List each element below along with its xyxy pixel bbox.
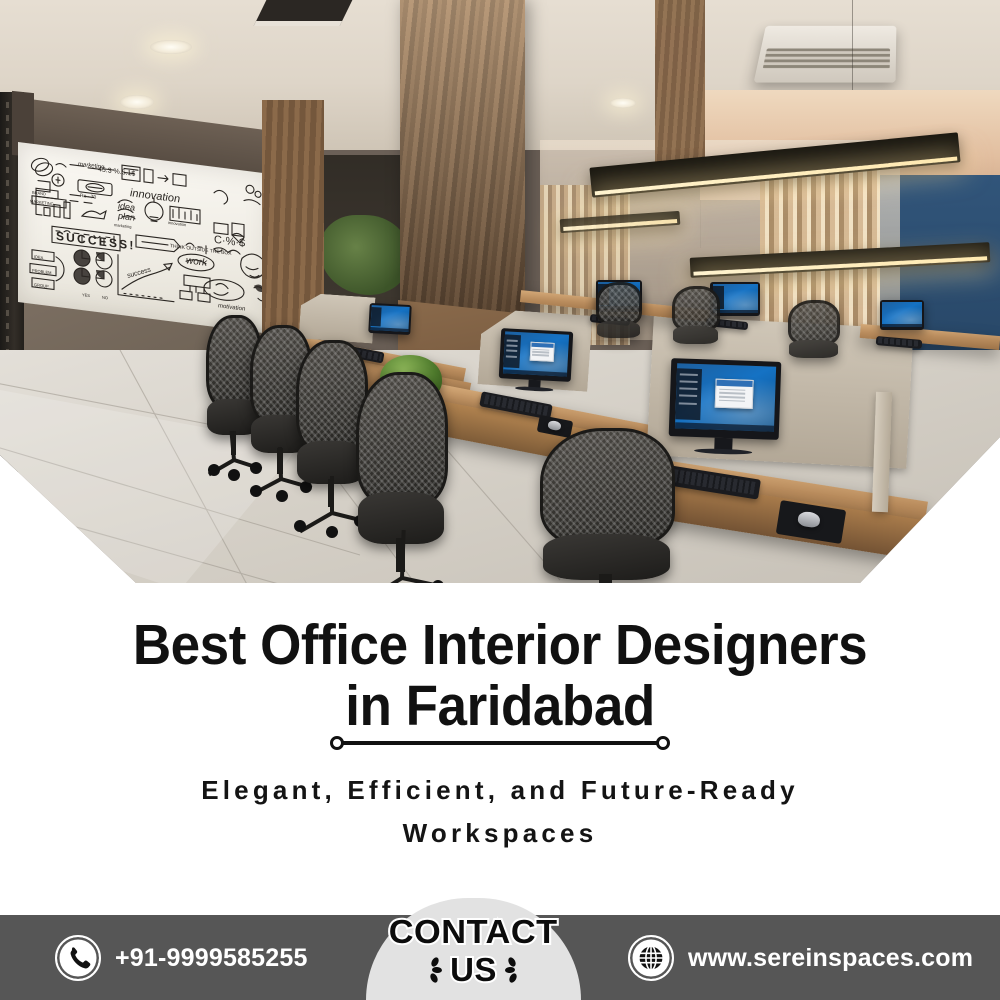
phone-icon [55,935,101,981]
svg-text:NO: NO [102,295,108,301]
monitor [499,328,574,382]
downlight-icon [610,98,636,108]
wood-column-far [655,0,705,180]
svg-text:GROUP: GROUP [34,282,49,289]
page-title: Best Office Interior Designers in Farida… [35,615,965,737]
divider-dot-left-icon [330,736,344,750]
phone-contact[interactable]: +91-9999585255 [55,935,308,981]
ceiling-vent [254,0,357,26]
svg-text:YES: YES [82,292,90,298]
svg-text:Ro · 70: Ro · 70 [80,193,97,201]
divider-dot-right-icon [656,736,670,750]
badge-line-1: CONTACT [389,915,558,948]
whiteboard-with-doodles: innovation SUCCESS! idea plan work THINK… [18,142,270,334]
subtitle-line-1: Elegant, Efficient, and Future-Ready [0,769,1000,812]
monitor [368,303,412,335]
office-chair [788,300,840,372]
svg-text:plan: plan [117,211,135,223]
office-chair [356,372,448,583]
website-contact[interactable]: www.sereinspaces.com [628,935,973,981]
svg-text:PROBLEM: PROBLEM [32,268,51,275]
svg-text:innovation: innovation [168,220,186,227]
divider-line [339,741,661,745]
contact-us-badge[interactable]: CONTACT US [366,898,581,1000]
office-chair [596,282,642,352]
title-line-1: Best Office Interior Designers [35,615,965,676]
downlight-icon [120,95,154,109]
title-line-2: in Faridabad [35,676,965,737]
svg-text:marketing: marketing [114,222,131,229]
website-url: www.sereinspaces.com [688,944,973,973]
ac-unit-icon [754,26,897,83]
office-chair [540,428,675,583]
badge-line-2-row: US [419,953,528,986]
divider [330,736,670,750]
office-interior-scene: innovation SUCCESS! idea plan work THINK… [0,0,1000,583]
monitor [669,358,782,440]
monitor [880,300,924,330]
globe-icon [628,935,674,981]
svg-text:success: success [126,266,152,279]
sparkle-right-icon [504,957,528,983]
office-chair [672,286,720,358]
wood-slat-column [400,0,525,350]
svg-text:IDEA: IDEA [34,254,44,260]
subtitle-line-2: Workspaces [0,812,1000,855]
sparkle-left-icon [419,957,443,983]
svg-text:SUCCESS!: SUCCESS! [56,229,136,253]
svg-text:motivation: motivation [218,303,246,313]
page-subtitle: Elegant, Efficient, and Future-Ready Wor… [0,769,1000,855]
badge-line-2: US [450,953,497,986]
svg-text:work: work [186,255,208,269]
phone-number: +91-9999585255 [115,944,308,973]
svg-text:45.3 %.5.1$: 45.3 %.5.1$ [98,166,135,178]
hero-image: innovation SUCCESS! idea plan work THINK… [0,0,1000,583]
downlight-icon [150,40,192,54]
